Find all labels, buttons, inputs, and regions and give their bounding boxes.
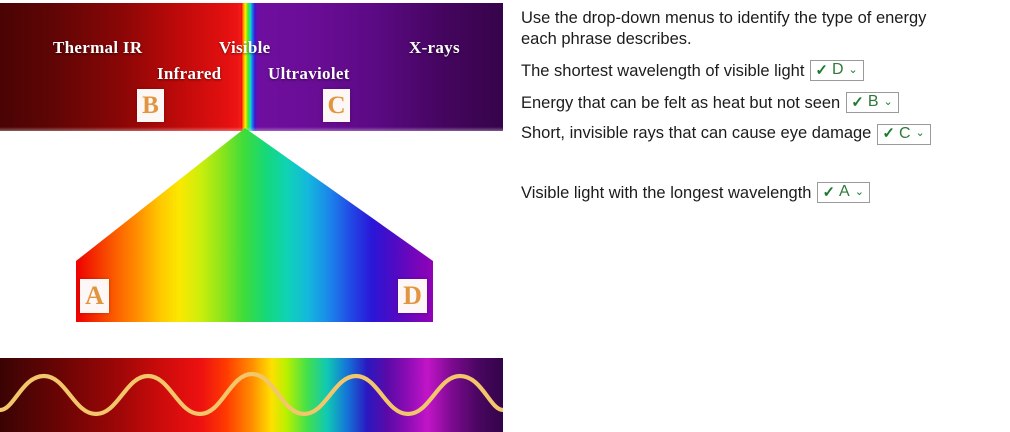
- wave-svg: [0, 358, 503, 432]
- check-icon: ✓: [851, 95, 864, 110]
- question-prompt-4: Visible light with the longest wavelengt…: [521, 183, 811, 203]
- question-row-2: Energy that can be felt as heat but not …: [521, 92, 991, 113]
- instruction-text: Use the drop-down menus to identify the …: [521, 8, 961, 50]
- question-row-4: Visible light with the longest wavelengt…: [521, 182, 991, 203]
- question-panel: Use the drop-down menus to identify the …: [521, 0, 1001, 432]
- banner-label-visible: Visible: [219, 38, 271, 58]
- banner-label-x-rays: X-rays: [409, 38, 460, 58]
- question-prompt-3: Short, invisible rays that can cause eye…: [521, 123, 871, 143]
- wavelength-wave-band: [0, 358, 503, 432]
- fan-svg: [0, 128, 503, 328]
- question-prompt-1: The shortest wavelength of visible light: [521, 61, 804, 81]
- electromagnetic-spectrum-figure: Thermal IR Visible X-rays Infrared Ultra…: [0, 0, 506, 432]
- question-row-1: The shortest wavelength of visible light…: [521, 60, 991, 81]
- chevron-down-icon: ⌄: [855, 187, 864, 198]
- answer-dropdown-1[interactable]: ✓ D ⌄: [810, 60, 863, 81]
- banner-label-infrared: Infrared: [157, 64, 221, 84]
- answer-dropdown-4[interactable]: ✓ A ⌄: [817, 182, 869, 203]
- dropdown-value-3: C: [899, 126, 911, 142]
- spectrum-banner: Thermal IR Visible X-rays Infrared Ultra…: [0, 3, 503, 131]
- visible-light-dispersion-fan: A D: [0, 128, 503, 328]
- chevron-down-icon: ⌄: [883, 97, 892, 108]
- check-icon: ✓: [815, 63, 828, 78]
- fan-gradient-body: [76, 128, 433, 328]
- chevron-down-icon: ⌄: [916, 128, 925, 139]
- sine-wave-line: [0, 374, 503, 414]
- dropdown-value-2: B: [868, 94, 879, 110]
- dropdown-value-1: D: [832, 62, 844, 78]
- banner-label-thermal-ir: Thermal IR: [53, 38, 142, 58]
- fan-badge-a: A: [80, 279, 109, 313]
- spectrum-badge-c: C: [323, 89, 350, 122]
- question-prompt-2: Energy that can be felt as heat but not …: [521, 93, 840, 113]
- answer-dropdown-2[interactable]: ✓ B ⌄: [846, 92, 898, 113]
- question-row-3: Short, invisible rays that can cause eye…: [521, 123, 961, 145]
- dropdown-value-4: A: [839, 184, 850, 200]
- answer-dropdown-3[interactable]: ✓ C ⌄: [877, 124, 930, 145]
- spectrum-badge-b: B: [137, 89, 164, 122]
- banner-label-ultraviolet: Ultraviolet: [268, 64, 350, 84]
- fan-badge-d: D: [398, 279, 427, 313]
- check-icon: ✓: [882, 126, 895, 141]
- check-icon: ✓: [822, 185, 835, 200]
- chevron-down-icon: ⌄: [849, 65, 858, 76]
